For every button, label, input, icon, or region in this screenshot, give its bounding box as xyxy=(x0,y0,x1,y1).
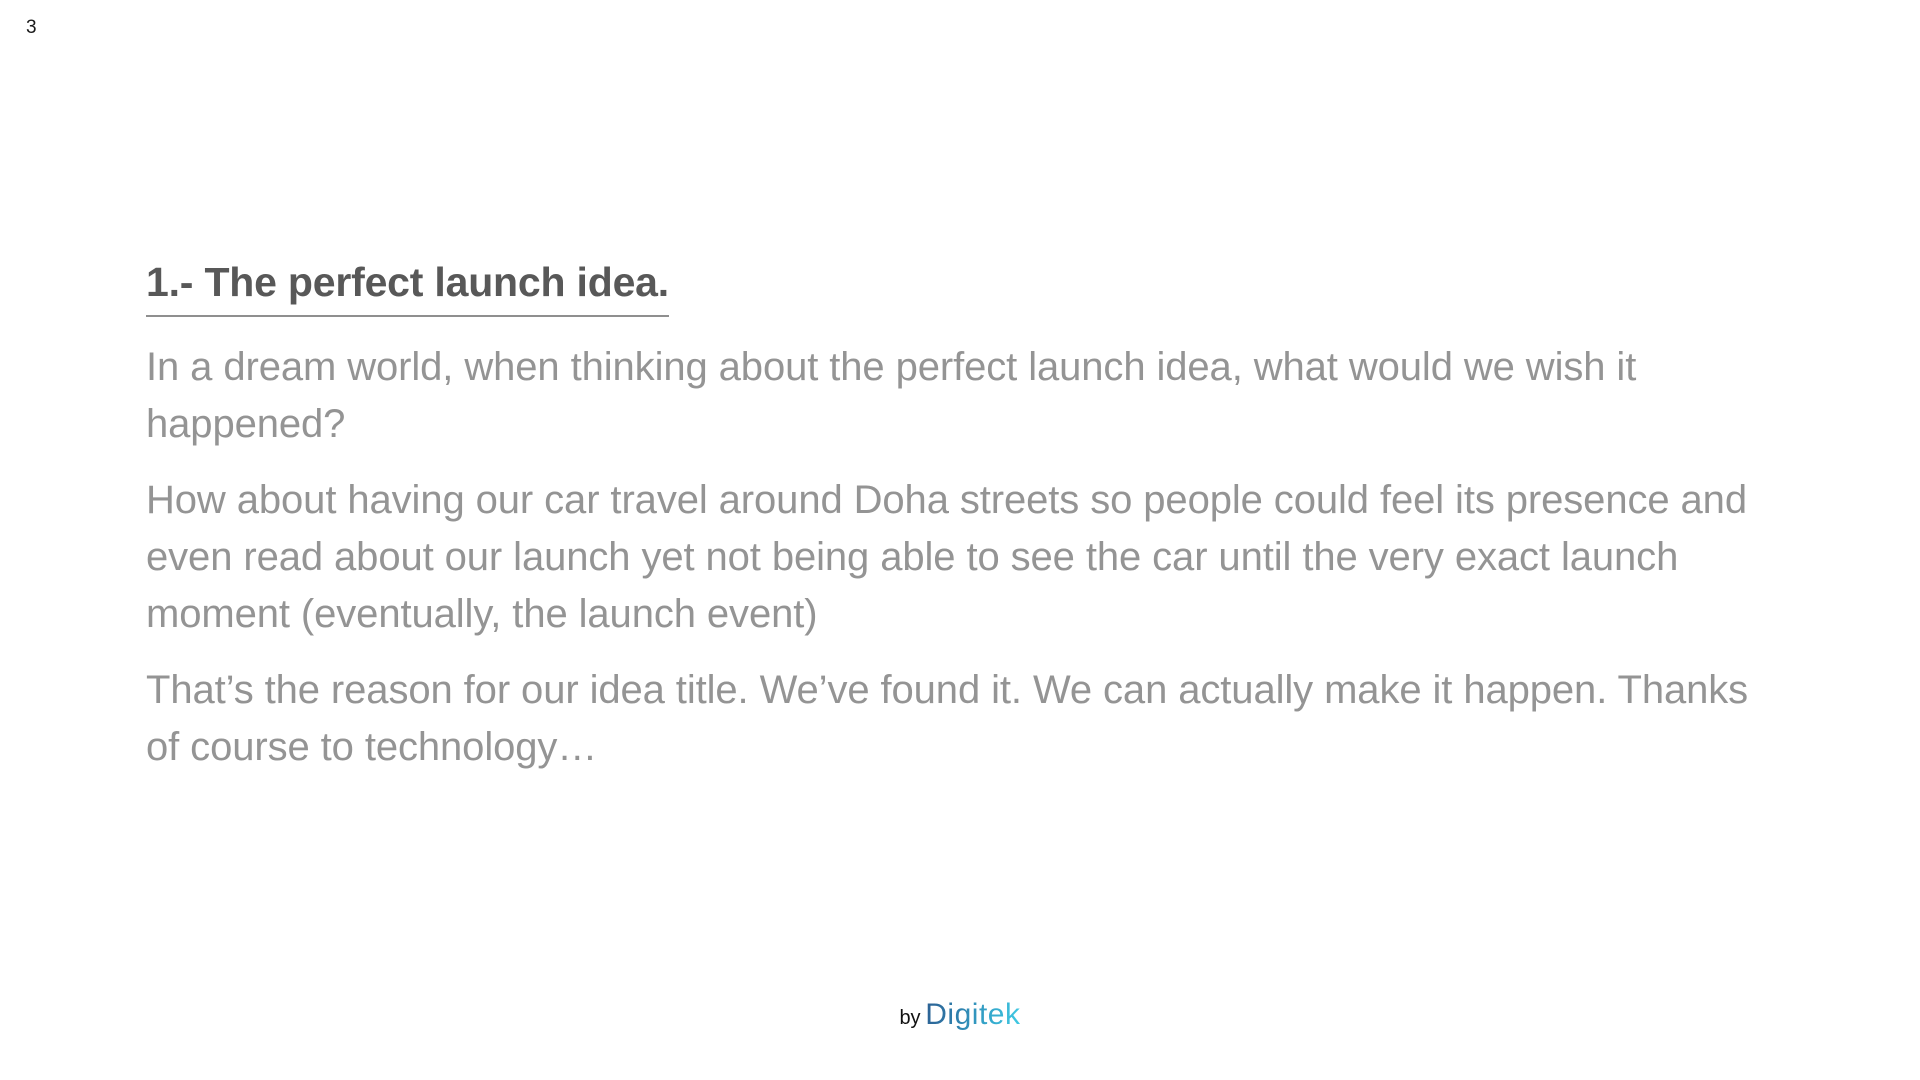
footer-logo: by Digitek xyxy=(0,1000,1920,1030)
body-paragraph-3: That’s the reason for our idea title. We… xyxy=(146,662,1786,776)
footer-by-label: by xyxy=(900,1007,921,1030)
body-paragraph-2: How about having our car travel around D… xyxy=(146,472,1818,643)
slide-content: 1.- The perfect launch idea. In a dream … xyxy=(146,258,1786,776)
slide-canvas: 3 1.- The perfect launch idea. In a drea… xyxy=(0,0,1920,1080)
page-number: 3 xyxy=(26,18,37,37)
digitek-wordmark: Digitek xyxy=(925,1000,1020,1030)
body-paragraph-1: In a dream world, when thinking about th… xyxy=(146,339,1806,453)
section-heading: 1.- The perfect launch idea. xyxy=(146,258,669,317)
